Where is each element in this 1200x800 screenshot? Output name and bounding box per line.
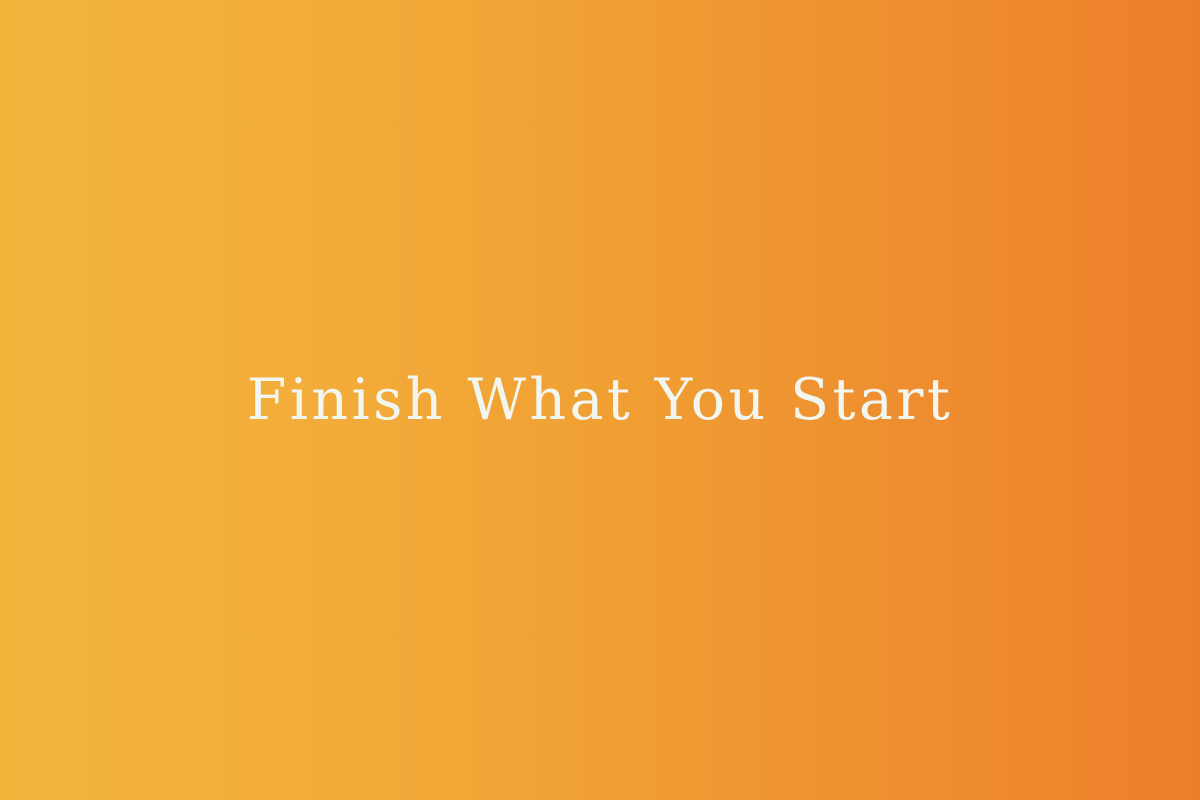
hero-banner: Finish What You Start	[0, 0, 1200, 800]
headline-text: Finish What You Start	[247, 369, 953, 432]
